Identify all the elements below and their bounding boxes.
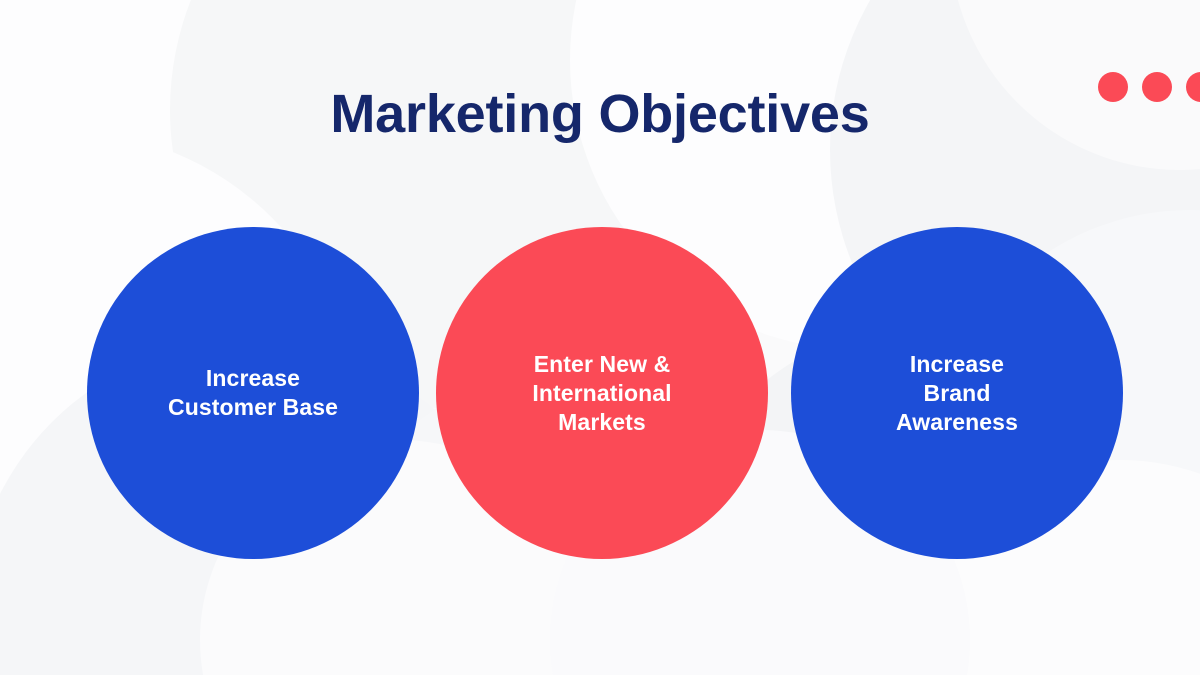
page-title: Marketing Objectives <box>0 82 1200 146</box>
objective-label: Increase Brand Awareness <box>896 350 1018 437</box>
decorative-dot-2 <box>1142 72 1172 102</box>
objective-label: Enter New & International Markets <box>532 350 671 437</box>
slide-canvas: Marketing Objectives Increase Customer B… <box>0 0 1200 675</box>
objective-label: Increase Customer Base <box>168 364 338 422</box>
decorative-dot-1 <box>1098 72 1128 102</box>
decorative-dot-3 <box>1186 72 1200 102</box>
objective-circle-increase-brand-awareness[interactable]: Increase Brand Awareness <box>791 227 1123 559</box>
objective-circle-increase-customer-base[interactable]: Increase Customer Base <box>87 227 419 559</box>
decorative-dot-group <box>1098 72 1200 102</box>
objective-circle-enter-new-international-markets[interactable]: Enter New & International Markets <box>436 227 768 559</box>
